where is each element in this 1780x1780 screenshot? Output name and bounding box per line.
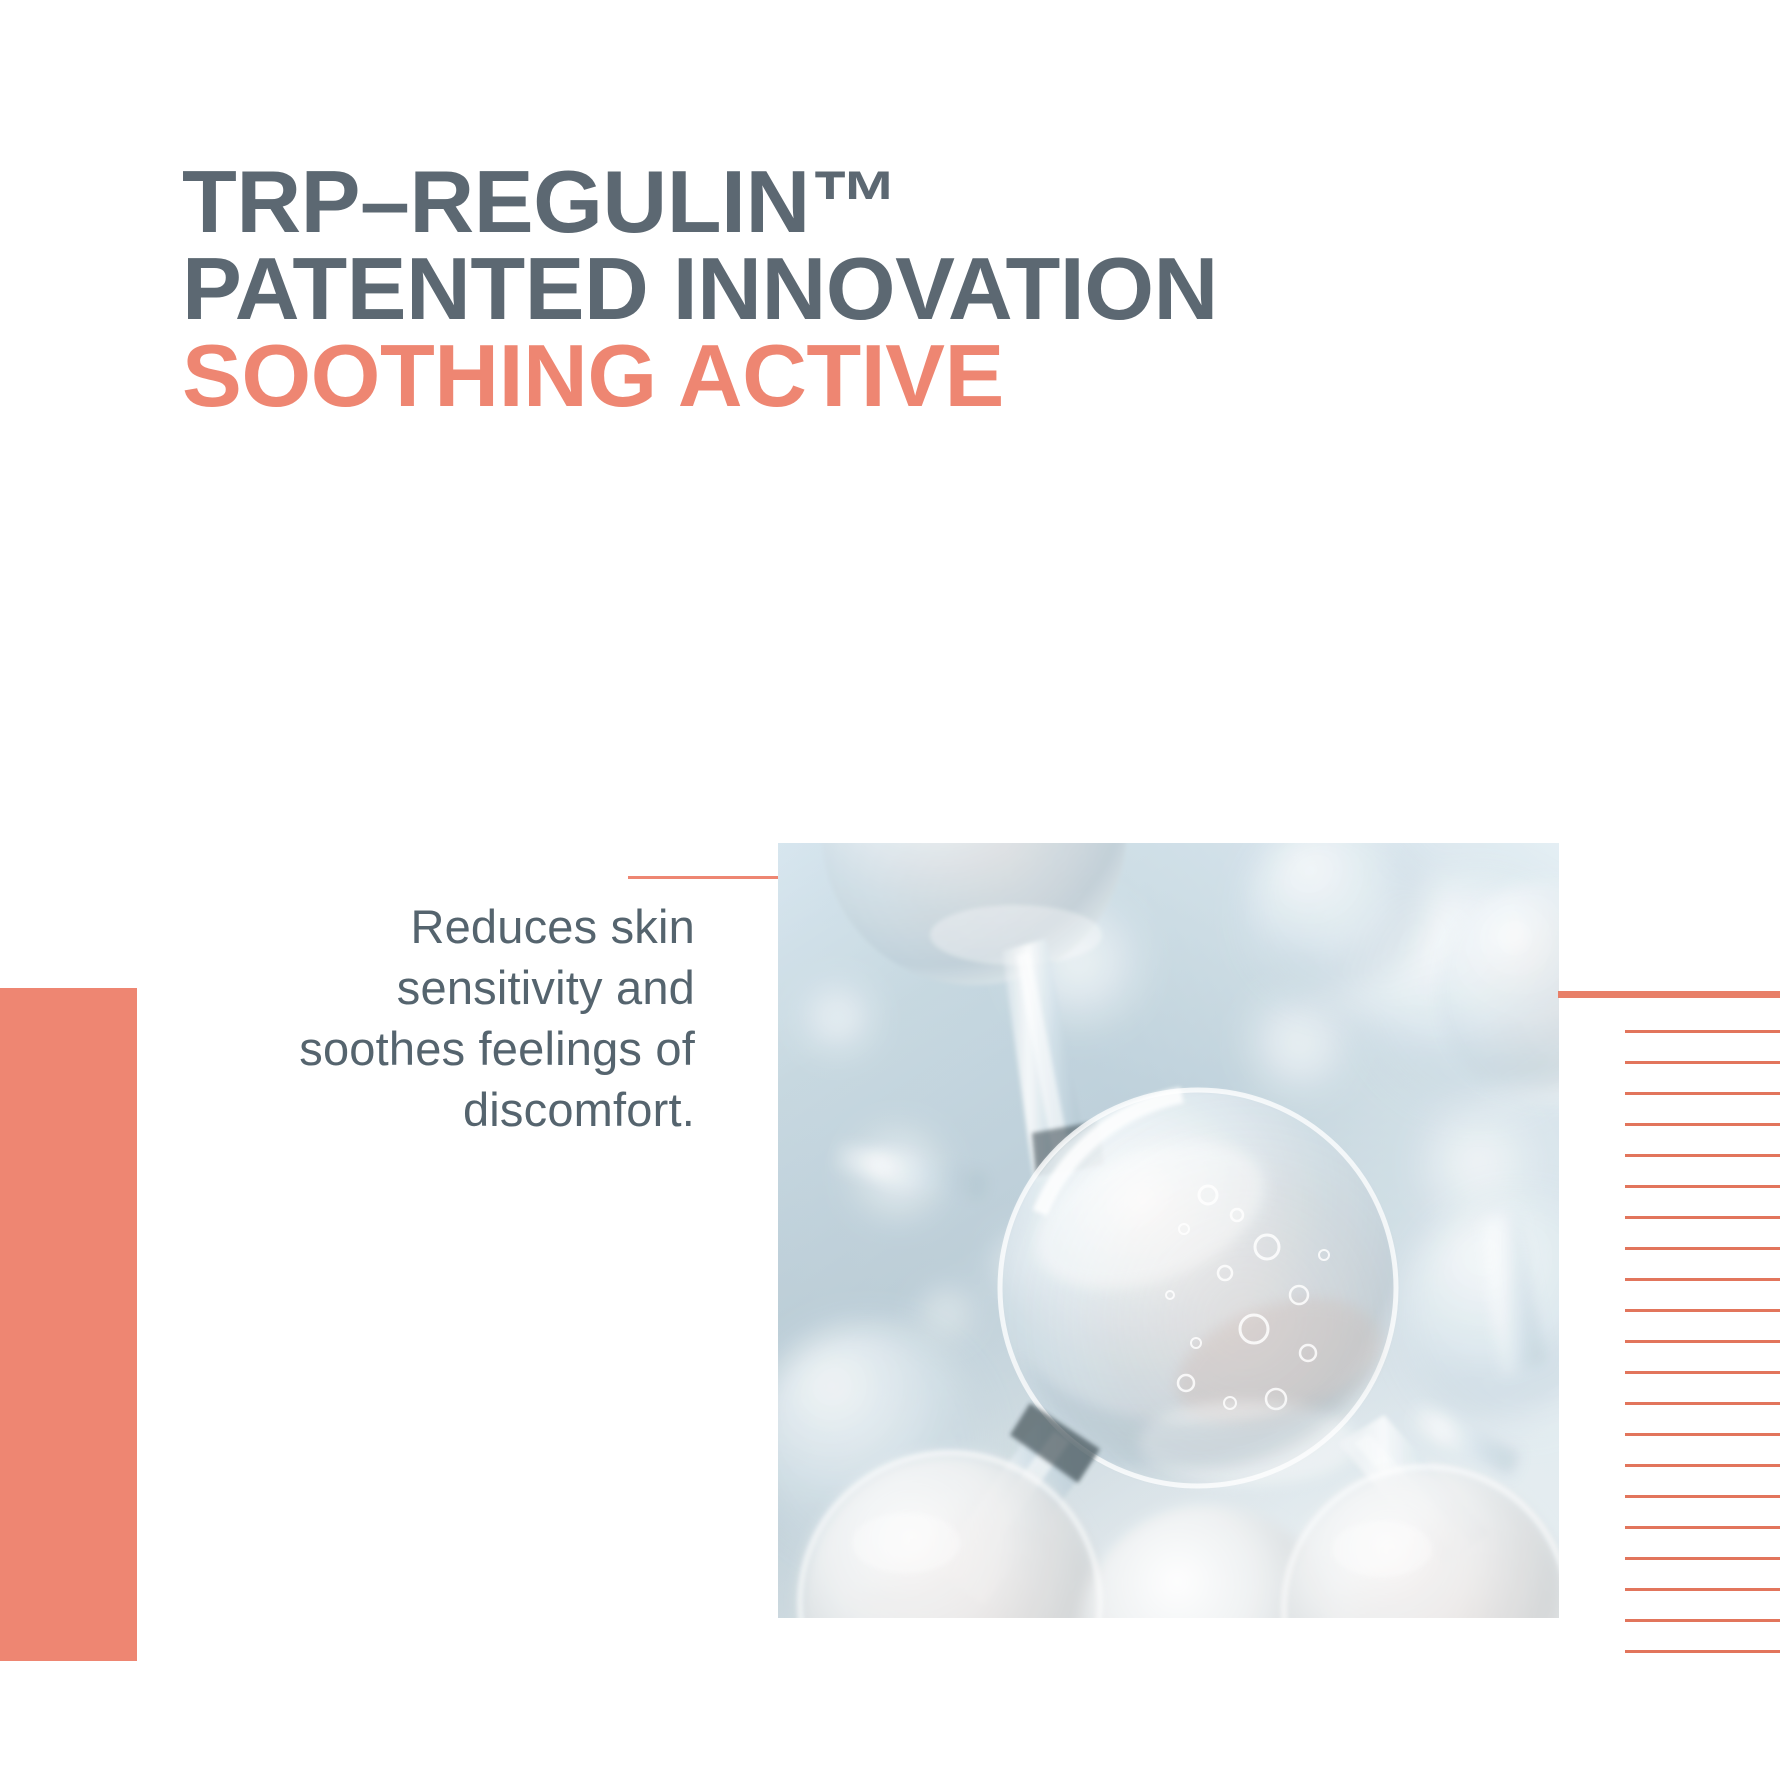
coral-rule — [1625, 1371, 1780, 1374]
coral-rule — [1625, 1092, 1780, 1095]
coral-rule — [1625, 1185, 1780, 1188]
headline-block: TRP–REGULIN™ PATENTED INNOVATION SOOTHIN… — [182, 158, 1432, 419]
coral-rule — [1625, 1278, 1780, 1281]
headline-line-2: PATENTED INNOVATION — [182, 245, 1457, 332]
coral-rule — [1625, 1588, 1780, 1591]
text-to-image-connector — [628, 876, 780, 879]
poster-canvas: TRP–REGULIN™ PATENTED INNOVATION SOOTHIN… — [0, 0, 1780, 1780]
coral-rule — [1625, 1247, 1780, 1250]
coral-rule — [1625, 1216, 1780, 1219]
coral-rule — [1625, 1526, 1780, 1529]
coral-rule — [1625, 1061, 1780, 1064]
coral-rule — [1625, 1557, 1780, 1560]
coral-rule — [1625, 1309, 1780, 1312]
coral-left-block — [0, 988, 137, 1661]
coral-rule — [1625, 1433, 1780, 1436]
coral-rule — [1625, 1464, 1780, 1467]
molecule-photo — [778, 843, 1559, 1618]
coral-rule — [1625, 1154, 1780, 1157]
coral-rule — [1625, 1030, 1780, 1033]
coral-rule — [1625, 1650, 1780, 1653]
headline-line-1: TRP–REGULIN™ — [182, 158, 1457, 245]
headline-line-3: SOOTHING ACTIVE — [182, 332, 1457, 419]
coral-rule — [1625, 1619, 1780, 1622]
coral-rule-lead — [1558, 991, 1780, 998]
body-copy: Reduces skin sensitivity and soothes fee… — [243, 896, 695, 1140]
coral-rule — [1625, 1402, 1780, 1405]
coral-rule — [1625, 1340, 1780, 1343]
coral-rule — [1625, 1123, 1780, 1126]
coral-rule — [1625, 1495, 1780, 1498]
